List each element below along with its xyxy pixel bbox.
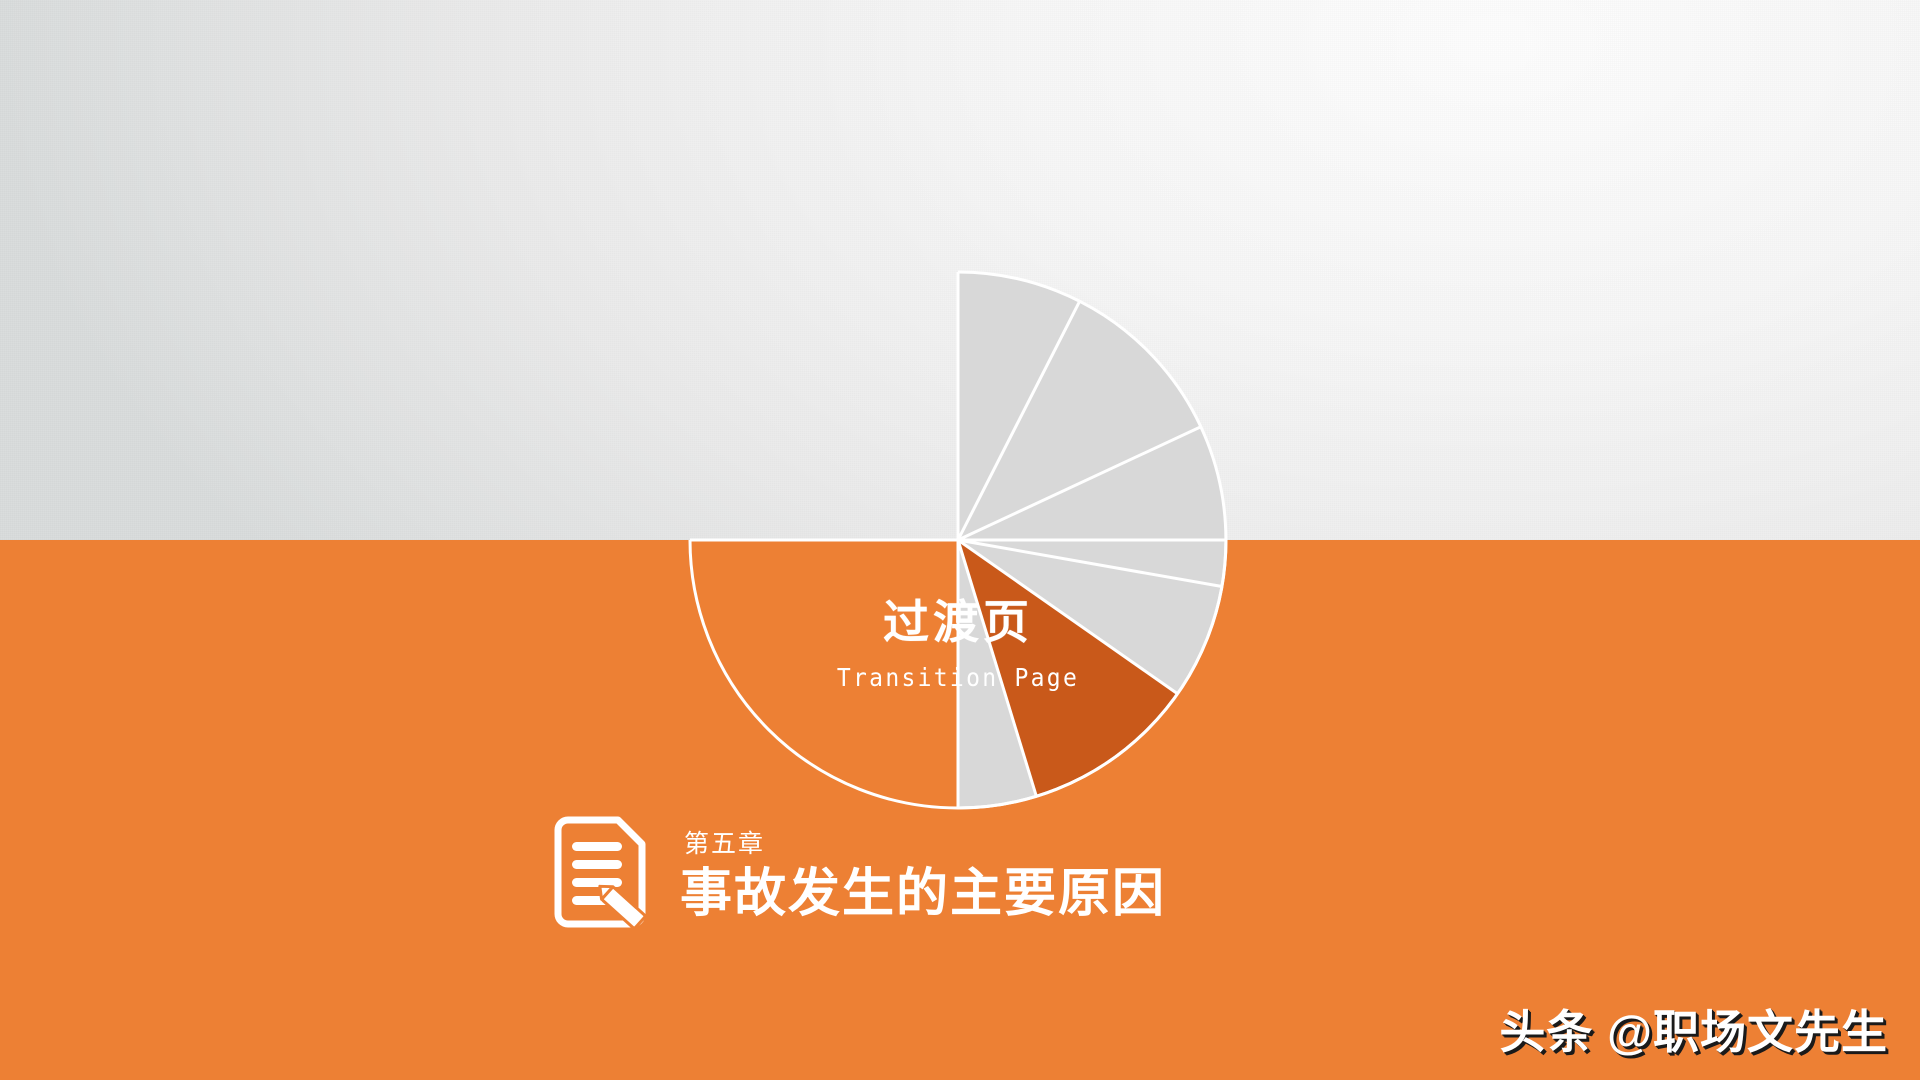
document-pencil-icon bbox=[548, 816, 652, 936]
circle-heading-block: 过渡页 Transition Page bbox=[698, 596, 1218, 692]
background-top-gradient bbox=[0, 0, 1920, 540]
watermark-text: 头条 @职场文先生 bbox=[1499, 996, 1888, 1062]
circle-heading-en: Transition Page bbox=[719, 663, 1197, 692]
chapter-block: 第五章 事故发生的主要原因 bbox=[548, 816, 1166, 936]
chapter-title: 事故发生的主要原因 bbox=[680, 866, 1166, 923]
slide-canvas: 过渡页 Transition Page 第五章 事故发生的主要原因 头条 @职场… bbox=[0, 0, 1920, 1080]
chapter-number: 第五章 bbox=[684, 824, 1166, 860]
chapter-labels: 第五章 事故发生的主要原因 bbox=[680, 824, 1166, 927]
circle-heading-cn: 过渡页 bbox=[698, 596, 1218, 649]
